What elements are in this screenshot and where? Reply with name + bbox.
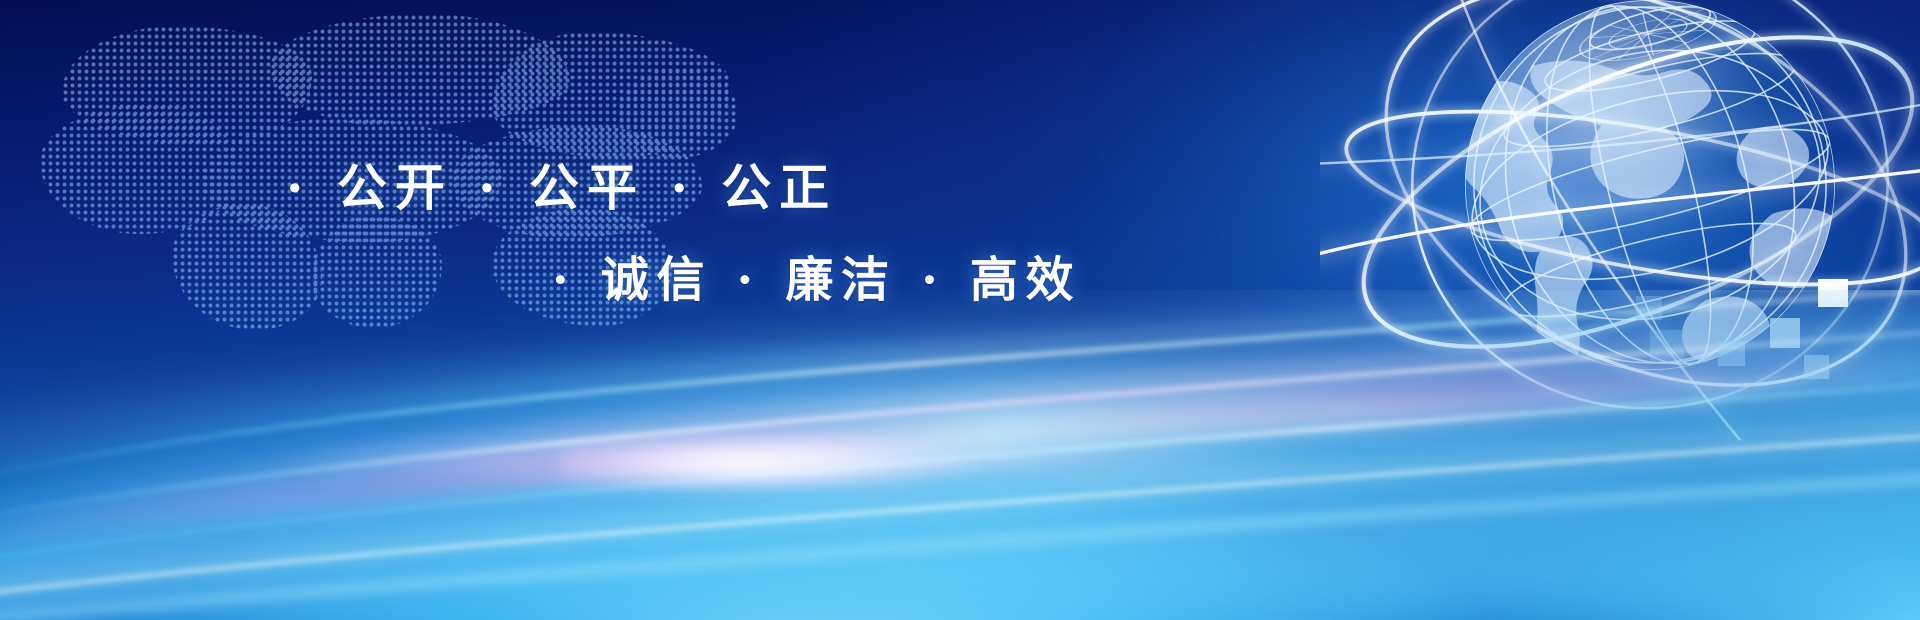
slogan-line-2: · 诚信 · 廉洁 · 高效	[552, 240, 1081, 310]
wave-light-core	[560, 398, 1180, 528]
slogan-block: · 公开 · 公平 · 公正 · 诚信 · 廉洁 · 高效	[0, 0, 1130, 360]
wireframe-globe	[1320, 0, 1920, 470]
slogan-line-1: · 公开 · 公平 · 公正	[286, 148, 837, 220]
hero-banner: · 公开 · 公平 · 公正 · 诚信 · 廉洁 · 高效	[0, 0, 1920, 620]
